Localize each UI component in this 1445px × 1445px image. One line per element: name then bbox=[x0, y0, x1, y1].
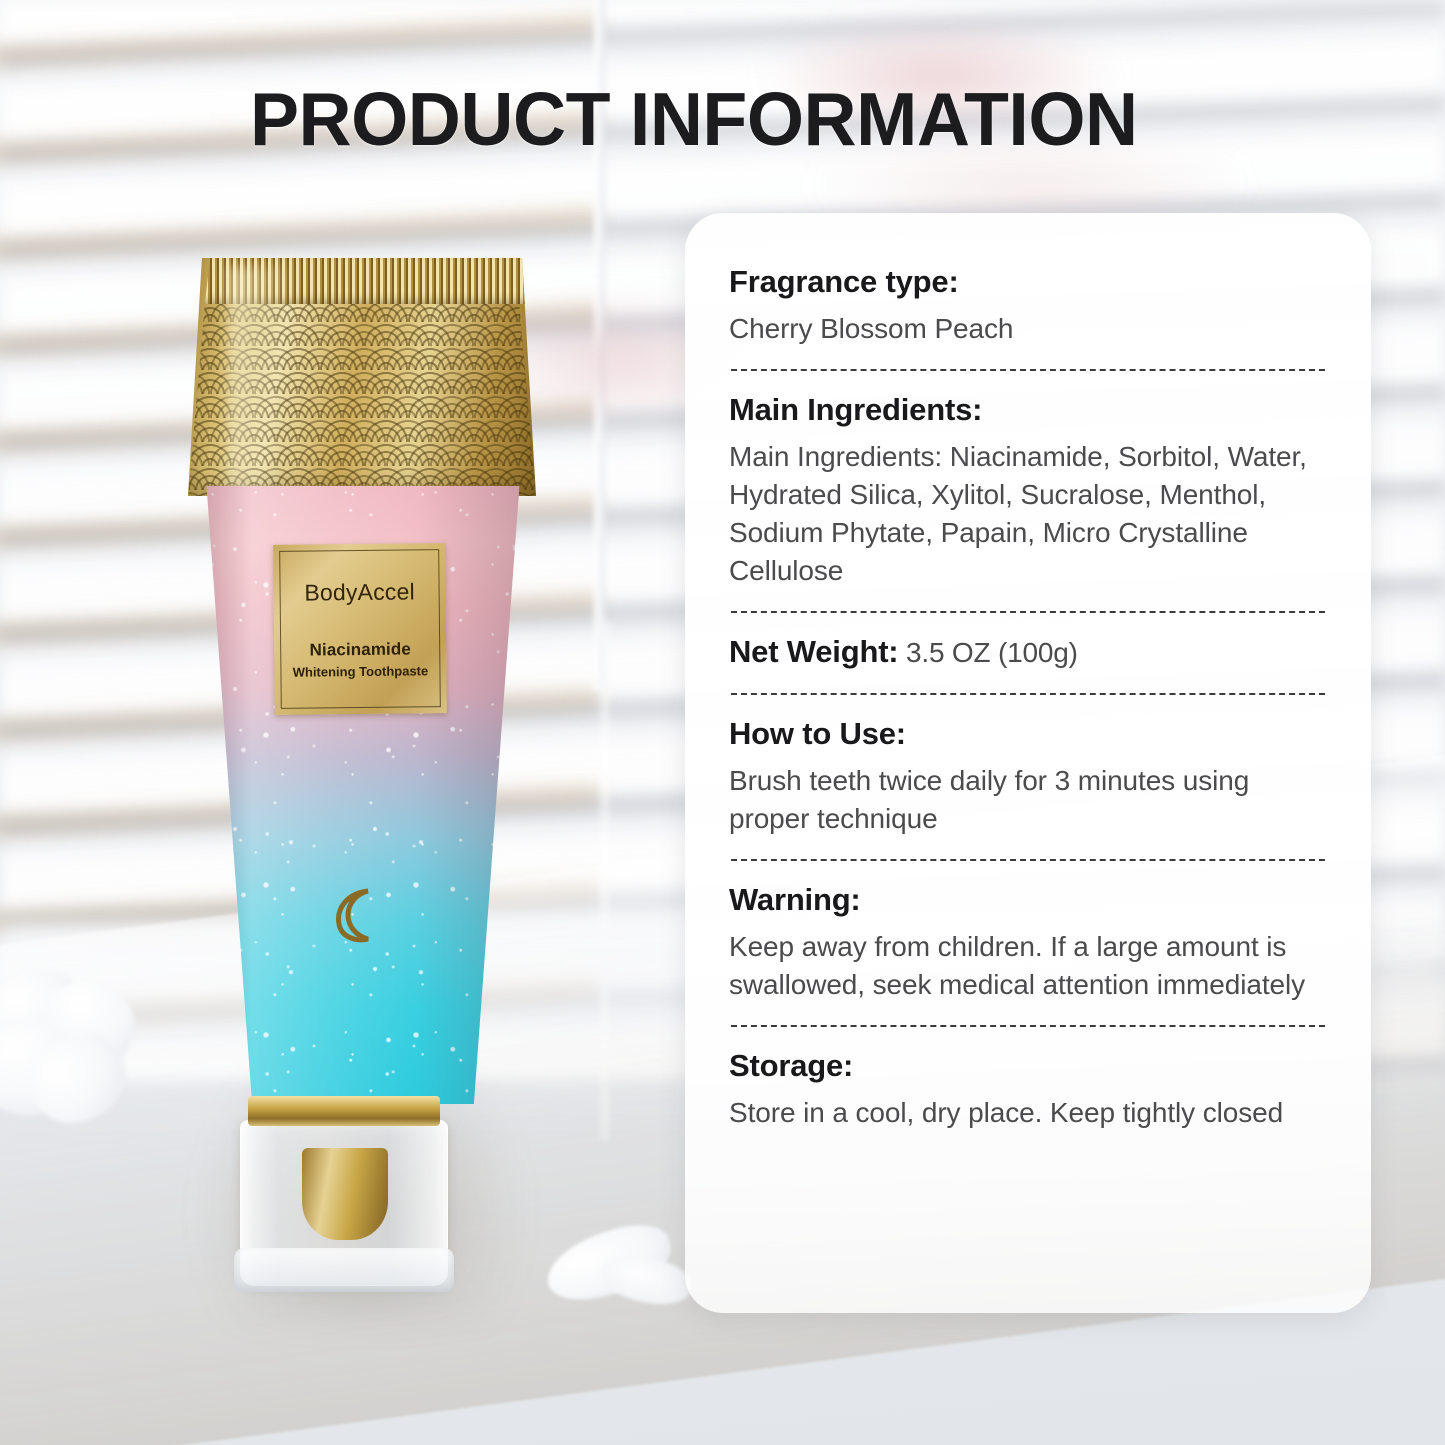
crescent-moon-icon bbox=[328, 886, 380, 944]
section-divider bbox=[731, 369, 1325, 371]
clear-cap-base bbox=[234, 1248, 454, 1292]
section-body: Keep away from children. If a large amou… bbox=[729, 928, 1327, 1004]
tube-gold-cap bbox=[188, 258, 536, 496]
section-body-text: 3.5 OZ (100g) bbox=[898, 637, 1077, 668]
info-section-how-to-use: How to Use:Brush teeth twice daily for 3… bbox=[729, 715, 1327, 838]
page-title: PRODUCT INFORMATION bbox=[250, 76, 1191, 162]
product-label-inner: BodyAccel Niacinamide Whitening Toothpas… bbox=[279, 549, 441, 709]
product-information-infographic: BodyAccel Niacinamide Whitening Toothpas… bbox=[0, 0, 1445, 1445]
section-heading: Main Ingredients: bbox=[729, 391, 1327, 429]
product-tube: BodyAccel Niacinamide Whitening Toothpas… bbox=[178, 258, 548, 1318]
product-label: BodyAccel Niacinamide Whitening Toothpas… bbox=[273, 543, 447, 715]
tube-clear-cap bbox=[240, 1096, 448, 1292]
section-body: Store in a cool, dry place. Keep tightly… bbox=[729, 1094, 1327, 1132]
gold-nozzle bbox=[302, 1148, 388, 1240]
section-heading: Fragrance type: bbox=[729, 263, 1327, 301]
brand-name: BodyAccel bbox=[304, 578, 415, 606]
section-body: Cherry Blossom Peach bbox=[729, 310, 1327, 348]
info-section-fragrance: Fragrance type:Cherry Blossom Peach bbox=[729, 263, 1327, 348]
section-heading: Warning: bbox=[729, 881, 1327, 919]
section-divider bbox=[731, 611, 1325, 613]
cap-gloss-highlight bbox=[228, 266, 298, 496]
product-subtitle: Whitening Toothpaste bbox=[293, 663, 429, 679]
info-section-ingredients: Main Ingredients:Main Ingredients: Niaci… bbox=[729, 391, 1327, 590]
section-divider bbox=[731, 859, 1325, 861]
section-heading: How to Use: bbox=[729, 715, 1327, 753]
section-heading: Net Weight: 3.5 OZ (100g) bbox=[729, 633, 1327, 672]
info-sections: Fragrance type:Cherry Blossom PeachMain … bbox=[729, 263, 1327, 1132]
white-flower bbox=[0, 965, 160, 1155]
info-section-net-weight: Net Weight: 3.5 OZ (100g) bbox=[729, 633, 1327, 672]
section-heading-text: Net Weight: bbox=[729, 634, 898, 669]
product-name: Niacinamide bbox=[309, 639, 410, 660]
section-body: Brush teeth twice daily for 3 minutes us… bbox=[729, 762, 1327, 838]
section-body: Main Ingredients: Niacinamide, Sorbitol,… bbox=[729, 438, 1327, 590]
section-divider bbox=[731, 693, 1325, 695]
section-heading: Storage: bbox=[729, 1047, 1327, 1085]
info-section-warning: Warning:Keep away from children. If a la… bbox=[729, 881, 1327, 1004]
info-section-storage: Storage:Store in a cool, dry place. Keep… bbox=[729, 1047, 1327, 1132]
product-info-card: Fragrance type:Cherry Blossom PeachMain … bbox=[685, 213, 1371, 1313]
gold-ring bbox=[248, 1096, 440, 1126]
section-divider bbox=[731, 1025, 1325, 1027]
